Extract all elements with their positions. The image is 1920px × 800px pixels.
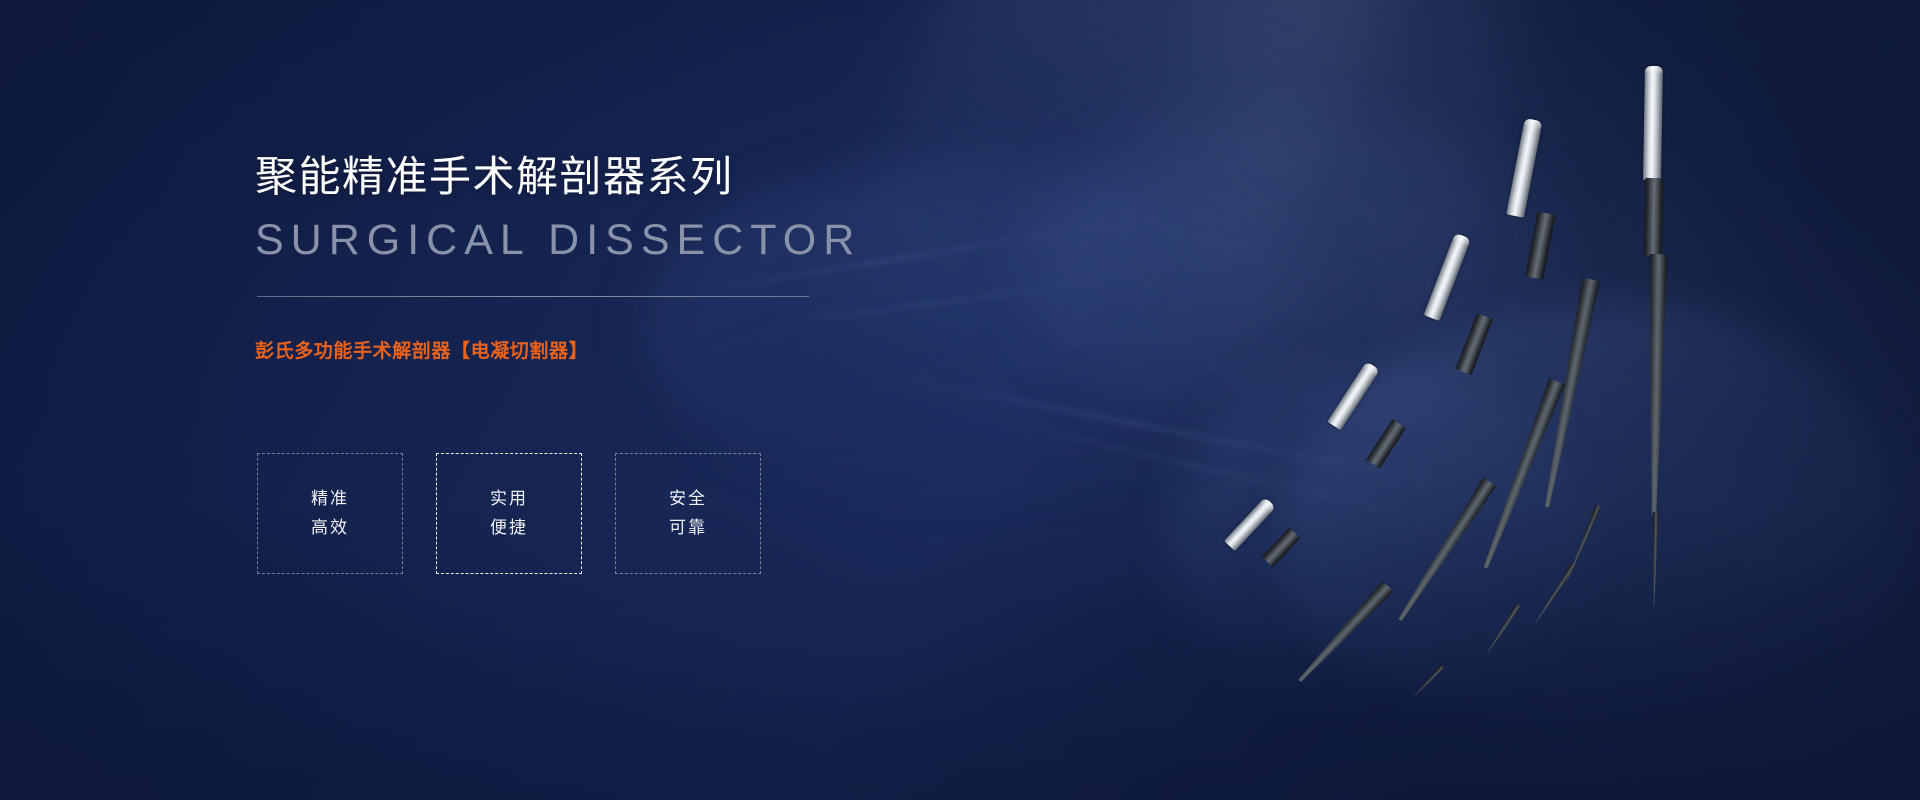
instrument-tip-3 <box>1546 563 1577 631</box>
feature-line-2: 可靠 <box>669 514 707 542</box>
instrument-tip-5 <box>1651 512 1659 606</box>
instrument-taper-body-2 <box>1393 477 1496 624</box>
instrument-shaft-2 <box>1366 419 1406 468</box>
feature-line-2: 便捷 <box>490 514 528 542</box>
instrument-probe-1 <box>1224 497 1276 551</box>
instrument-needle-3 <box>1533 562 1576 624</box>
product-name-label: 彭氏多功能手术解剖器【电凝切割器】 <box>255 336 588 363</box>
instrument-tip-2 <box>1485 603 1521 653</box>
hero-content: 聚能精准手术解剖器系列 SURGICAL DISSECTOR 彭氏多功能手术解剖… <box>255 0 1075 800</box>
instrument-needle-1 <box>1412 665 1444 699</box>
bg-forearm-blur <box>1020 120 1580 420</box>
page-title: 聚能精准手术解剖器系列 <box>255 143 734 204</box>
bg-light-beam-secondary <box>1138 0 1521 518</box>
instrument-probe-4 <box>1506 118 1542 218</box>
instrument-shaft-body-2 <box>1366 419 1406 468</box>
feature-box-practical: 实用 便捷 <box>436 453 582 574</box>
feature-box-group: 精准 高效 实用 便捷 安全 可靠 <box>257 453 761 574</box>
feature-box-precision: 精准 高效 <box>257 453 403 574</box>
instrument-taper-3 <box>1478 378 1566 571</box>
instrument-handle-5 <box>1643 66 1663 180</box>
instrument-handle-1 <box>1224 497 1276 551</box>
instrument-shaft-body-5 <box>1644 178 1663 256</box>
feature-line-1: 精准 <box>311 485 349 513</box>
instrument-taper-body-1 <box>1294 581 1394 686</box>
instrument-taper-body-5 <box>1645 254 1668 516</box>
instrument-needle-5 <box>1651 512 1659 606</box>
instrument-shaft-body-1 <box>1262 528 1300 567</box>
hero-banner: 聚能精准手术解剖器系列 SURGICAL DISSECTOR 彭氏多功能手术解剖… <box>0 0 1920 800</box>
instrument-probe-5 <box>1643 66 1663 180</box>
instrument-tip-1 <box>1412 665 1444 699</box>
instrument-handle-4 <box>1506 118 1542 218</box>
instrument-shaft-body-3 <box>1456 313 1493 375</box>
instrument-shaft-1 <box>1262 528 1300 567</box>
instrument-probe-3 <box>1424 233 1471 321</box>
instrument-shaft-5 <box>1644 178 1663 256</box>
instrument-taper-5 <box>1645 254 1668 516</box>
instrument-shaft-3 <box>1456 313 1493 375</box>
instrument-probe-2 <box>1327 361 1380 430</box>
instrument-needle-4 <box>1564 504 1602 582</box>
instrument-handle-3 <box>1424 233 1471 321</box>
instrument-taper-2 <box>1393 477 1496 624</box>
bg-gloved-hand-secondary <box>1170 360 1590 690</box>
instrument-tip-4 <box>1580 505 1602 587</box>
bg-gloved-hand <box>1280 300 1900 720</box>
feature-line-1: 安全 <box>669 485 707 513</box>
instrument-taper-body-3 <box>1478 378 1566 571</box>
instrument-needle-2 <box>1485 603 1521 653</box>
feature-box-safety: 安全 可靠 <box>615 453 761 574</box>
page-subtitle-english: SURGICAL DISSECTOR <box>255 216 861 265</box>
instrument-shaft-4 <box>1525 211 1555 279</box>
instrument-taper-1 <box>1294 581 1394 686</box>
feature-line-1: 实用 <box>490 485 528 513</box>
title-divider <box>257 296 809 297</box>
instrument-shaft-body-4 <box>1525 211 1555 279</box>
instrument-taper-body-4 <box>1538 278 1600 509</box>
instrument-handle-2 <box>1327 361 1380 430</box>
instrument-taper-4 <box>1538 278 1600 509</box>
feature-line-2: 高效 <box>311 514 349 542</box>
